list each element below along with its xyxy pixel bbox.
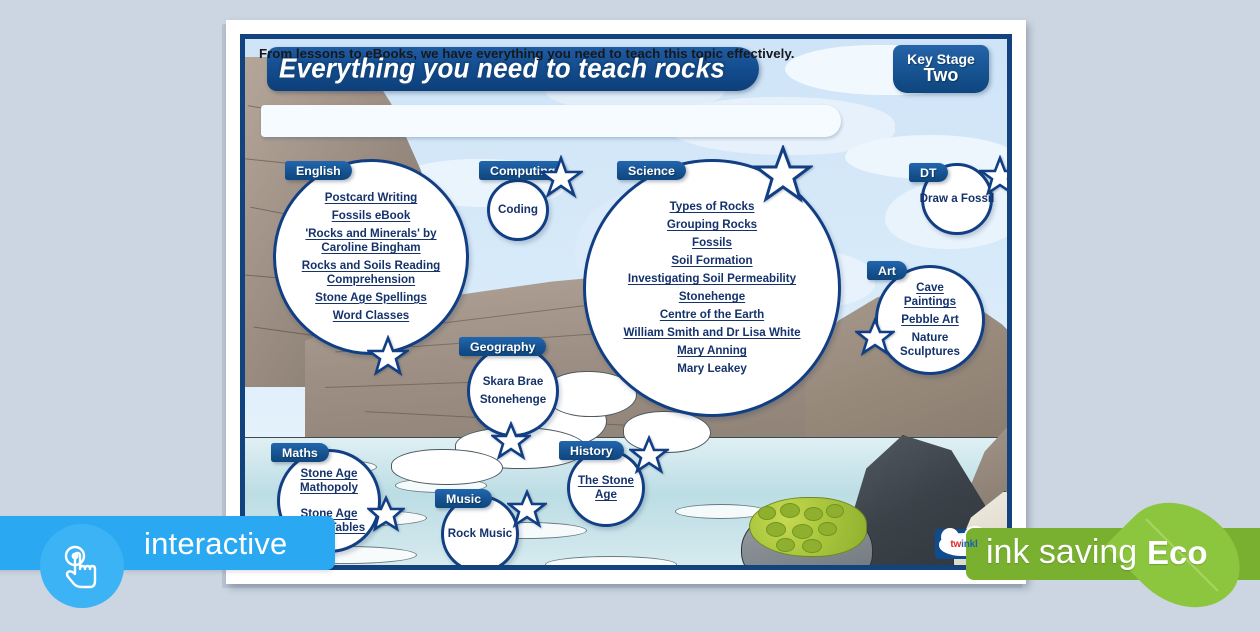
moss-patch bbox=[749, 497, 867, 557]
subject-tag-art[interactable]: Art bbox=[867, 261, 907, 280]
poster-frame: Everything you need to teach rocks Key S… bbox=[240, 34, 1012, 570]
star-icon bbox=[367, 335, 409, 377]
subject-item[interactable]: Stonehenge bbox=[480, 391, 546, 409]
subject-tag-music[interactable]: Music bbox=[435, 489, 492, 508]
subtitle-text: From lessons to eBooks, we have everythi… bbox=[259, 46, 794, 61]
subject-item[interactable]: Mary Anning bbox=[677, 342, 747, 360]
subject-item[interactable]: Word Classes bbox=[333, 307, 409, 325]
subject-item[interactable]: Rocks and Soils Reading Comprehension bbox=[290, 257, 452, 289]
star-icon bbox=[507, 489, 547, 529]
star-icon bbox=[539, 155, 583, 199]
poster: Everything you need to teach rocks Key S… bbox=[226, 20, 1026, 584]
star-icon bbox=[979, 155, 1007, 197]
subject-item[interactable]: Pebble Art bbox=[901, 311, 959, 329]
key-stage-line2: Two bbox=[893, 66, 989, 85]
poster-artwork: Everything you need to teach rocks Key S… bbox=[245, 39, 1007, 565]
subject-item[interactable]: Soil Formation bbox=[671, 252, 752, 270]
subject-item[interactable]: Mary Leakey bbox=[677, 360, 747, 378]
subject-tag-history[interactable]: History bbox=[559, 441, 624, 460]
subject-item[interactable]: The Stone Age bbox=[576, 472, 636, 504]
touch-pointer-icon bbox=[40, 524, 124, 608]
subject-item[interactable]: Fossils bbox=[692, 234, 732, 252]
subject-item[interactable]: Cave Paintings bbox=[891, 279, 969, 311]
subject-item[interactable]: Types of Rocks bbox=[670, 198, 755, 216]
key-stage-badge: Key Stage Two bbox=[893, 45, 989, 93]
subject-item[interactable]: Fossils eBook bbox=[332, 207, 411, 225]
ink-saving-label: ink saving bbox=[986, 535, 1137, 569]
subject-item[interactable]: 'Rocks and Minerals' by Caroline Bingham bbox=[291, 225, 451, 257]
subject-item[interactable]: Skara Brae bbox=[483, 373, 544, 391]
subject-tag-science[interactable]: Science bbox=[617, 161, 686, 180]
subject-item[interactable]: Centre of the Earth bbox=[660, 306, 764, 324]
subject-item[interactable]: Nature Sculptures bbox=[891, 329, 969, 361]
subject-item[interactable]: Stone Age Mathopoly bbox=[288, 465, 370, 497]
star-icon bbox=[367, 495, 405, 533]
subject-tag-dt[interactable]: DT bbox=[909, 163, 948, 182]
twinkl-wordmark: twinkl bbox=[950, 539, 977, 550]
subject-tag-geography[interactable]: Geography bbox=[459, 337, 546, 356]
subject-item[interactable]: Stone Age Spellings bbox=[315, 289, 427, 307]
subject-tag-maths[interactable]: Maths bbox=[271, 443, 329, 462]
subject-item[interactable]: Stonehenge bbox=[679, 288, 745, 306]
subject-item[interactable]: Investigating Soil Permeability bbox=[628, 270, 796, 288]
subject-item[interactable]: Coding bbox=[498, 201, 538, 219]
screenshot-root: Everything you need to teach rocks Key S… bbox=[0, 0, 1260, 630]
star-icon bbox=[855, 317, 895, 357]
star-icon bbox=[753, 145, 813, 205]
eco-label: Eco bbox=[1147, 536, 1208, 569]
subject-item[interactable]: William Smith and Dr Lisa White bbox=[623, 324, 800, 342]
touch-pointer-glyph bbox=[57, 541, 107, 591]
subtitle-banner bbox=[261, 105, 841, 137]
subject-bubble-english[interactable]: Postcard Writing Fossils eBook 'Rocks an… bbox=[273, 159, 469, 355]
star-icon bbox=[491, 421, 531, 461]
key-stage-line1: Key Stage bbox=[893, 52, 989, 66]
waterfall-foam bbox=[391, 449, 503, 485]
interactive-label: interactive bbox=[144, 528, 288, 559]
subject-item[interactable]: Rock Music bbox=[448, 525, 512, 543]
subject-item[interactable]: Postcard Writing bbox=[325, 189, 418, 207]
subject-item[interactable]: Grouping Rocks bbox=[667, 216, 757, 234]
star-icon bbox=[629, 435, 669, 475]
subject-tag-english[interactable]: English bbox=[285, 161, 352, 180]
